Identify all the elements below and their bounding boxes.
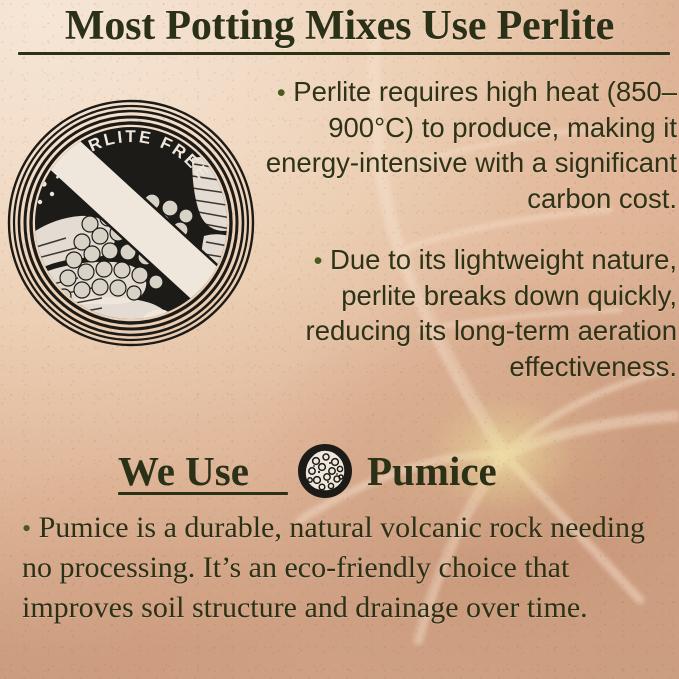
list-item-text: Perlite requires high heat (850–900°C) t… — [266, 76, 677, 214]
perlite-free-badge: · PERLITE FREE — [6, 98, 256, 348]
list-item-text: Pumice is a durable, natural volcanic ro… — [22, 511, 645, 624]
we-use-pumice-row: We Use — [118, 444, 497, 498]
pumice-benefits-block: • Pumice is a durable, natural volcanic … — [22, 508, 660, 628]
pumice-material-label: Pumice — [367, 448, 497, 494]
we-use-label: We Use — [118, 448, 249, 494]
perlite-drawbacks-list: • Perlite requires high heat (850–900°C)… — [253, 74, 677, 384]
infographic-card: Most Potting Mixes Use Perlite — [0, 0, 679, 679]
we-use-underline — [118, 492, 288, 495]
pumice-rock-icon — [297, 443, 353, 499]
list-item-text: Due to its lightweight nature, perlite b… — [306, 244, 677, 382]
title-underline — [18, 52, 670, 55]
title-block: Most Potting Mixes Use Perlite — [0, 2, 679, 50]
list-item: • Perlite requires high heat (850–900°C)… — [253, 74, 677, 216]
bullet-marker: • — [314, 247, 323, 275]
list-item: • Due to its lightweight nature, perlite… — [253, 242, 677, 384]
page-title: Most Potting Mixes Use Perlite — [0, 2, 679, 50]
list-item: • Pumice is a durable, natural volcanic … — [22, 508, 660, 628]
bullet-marker: • — [22, 514, 31, 543]
bullet-marker: • — [277, 79, 286, 107]
